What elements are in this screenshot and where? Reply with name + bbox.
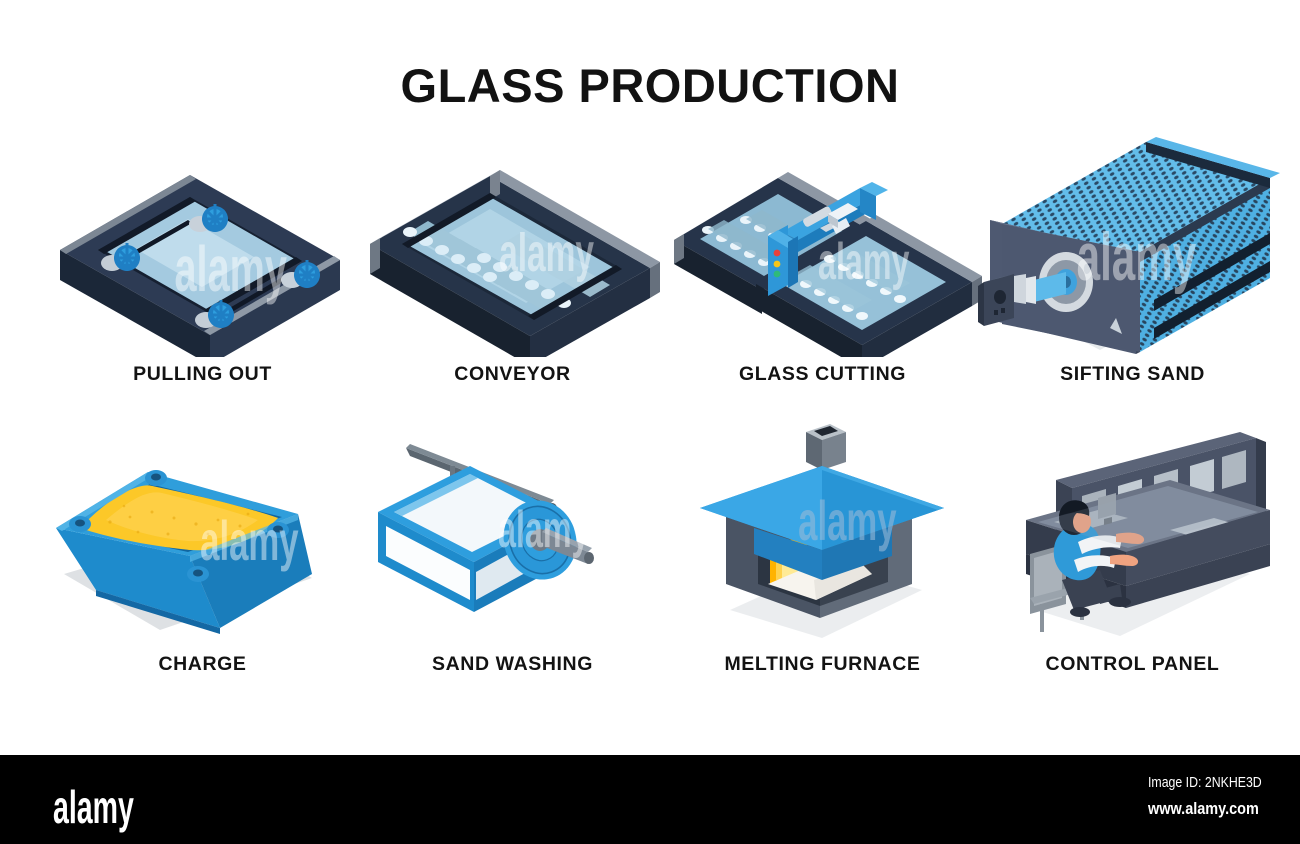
alamy-url-text: www.alamy.com [1148,799,1262,819]
process-label-glass-cutting: GLASS CUTTING [660,363,985,386]
sand-washing-icon [350,422,675,647]
process-label-pulling-out: PULLING OUT [40,363,365,386]
conveyor-icon [350,132,675,357]
page-title: GLASS PRODUCTION [0,58,1300,113]
process-item-charge[interactable]: CHARGE [40,422,365,712]
image-id-text: Image ID: 2NKHE3D [1148,775,1262,791]
process-item-melting-furnace[interactable]: MELTING FURNACE [660,422,985,712]
footer-meta: Image ID: 2NKHE3D www.alamy.com [1148,775,1282,819]
process-item-glass-cutting[interactable]: GLASS CUTTING [660,132,985,422]
process-label-sifting-sand: SIFTING SAND [970,363,1295,386]
process-item-conveyor[interactable]: CONVEYOR [350,132,675,422]
process-item-sand-washing[interactable]: SAND WASHING [350,422,675,712]
melting-furnace-icon [660,422,985,647]
process-label-control-panel: CONTROL PANEL [970,653,1295,676]
charge-icon [40,422,365,647]
sifting-sand-icon [970,132,1295,357]
process-label-melting-furnace: MELTING FURNACE [660,653,985,676]
process-grid: PULLING OUT [0,132,1300,732]
illustration-stage: GLASS PRODUCTION [0,0,1300,755]
process-item-sifting-sand[interactable]: SIFTING SAND [970,132,1295,422]
stock-footer: alamy Image ID: 2NKHE3D www.alamy.com [0,755,1300,844]
alamy-logo: alamy [53,780,134,834]
process-label-charge: CHARGE [40,653,365,676]
process-item-pulling-out[interactable]: PULLING OUT [40,132,365,422]
control-panel-icon [970,422,1295,647]
process-label-sand-washing: SAND WASHING [350,653,675,676]
glass-cutting-icon [660,132,985,357]
process-item-control-panel[interactable]: CONTROL PANEL [970,422,1295,712]
pulling-out-icon [40,132,365,357]
process-label-conveyor: CONVEYOR [350,363,675,386]
